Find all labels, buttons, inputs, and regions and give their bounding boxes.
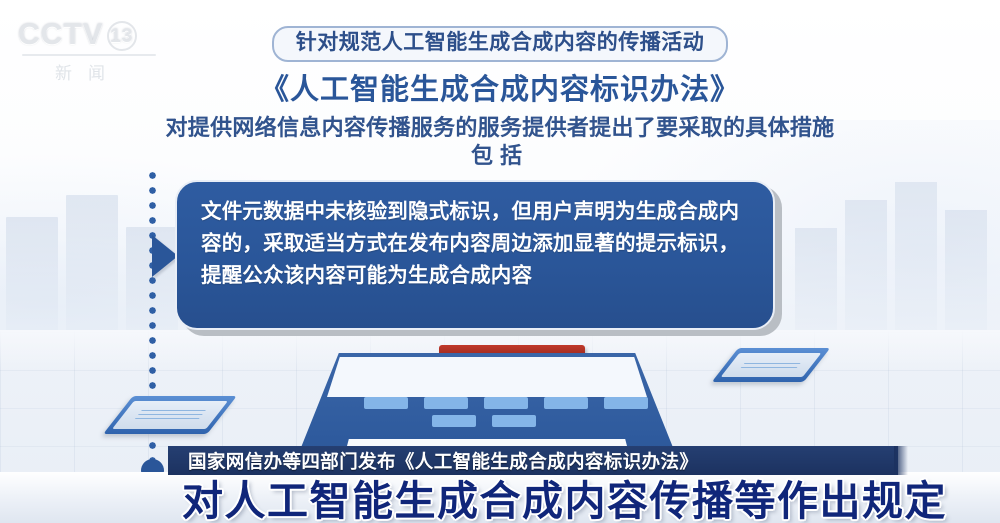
callout-text: 文件元数据中未核验到隐式标识，但用户声明为生成合成内容的，采取适当方式在发布内容… bbox=[201, 196, 751, 291]
lower-third-banner: 国家网信办等四部门发布《人工智能生成合成内容标识办法》 对人工智能生成合成内容传… bbox=[0, 446, 1000, 523]
lead-paragraph: 对提供网络信息内容传播服务的服务提供者提出了要采取的具体措施 包括 bbox=[0, 114, 1000, 170]
lead-line-2: 包括 bbox=[0, 142, 1000, 170]
lead-line-1: 对提供网络信息内容传播服务的服务提供者提出了要采取的具体措施 bbox=[165, 115, 834, 140]
topic-pill: 针对规范人工智能生成合成内容的传播活动 bbox=[272, 26, 729, 62]
banner-headline-row: 对人工智能生成合成内容传播等作出规定 bbox=[168, 470, 1000, 523]
device-keypad bbox=[292, 397, 682, 431]
document-title: 《人工智能生成合成内容标识办法》 bbox=[0, 66, 1000, 108]
device-screen bbox=[327, 357, 647, 397]
chip-right-surface bbox=[721, 353, 822, 377]
banner-headline-text: 对人工智能生成合成内容传播等作出规定 bbox=[168, 467, 947, 523]
chip-left-surface bbox=[112, 401, 228, 429]
measure-callout-card: 文件元数据中未核验到隐式标识，但用户声明为生成合成内容的，采取适当方式在发布内容… bbox=[175, 180, 775, 330]
headline-block: 针对规范人工智能生成合成内容的传播活动 《人工智能生成合成内容标识办法》 对提供… bbox=[0, 26, 1000, 170]
